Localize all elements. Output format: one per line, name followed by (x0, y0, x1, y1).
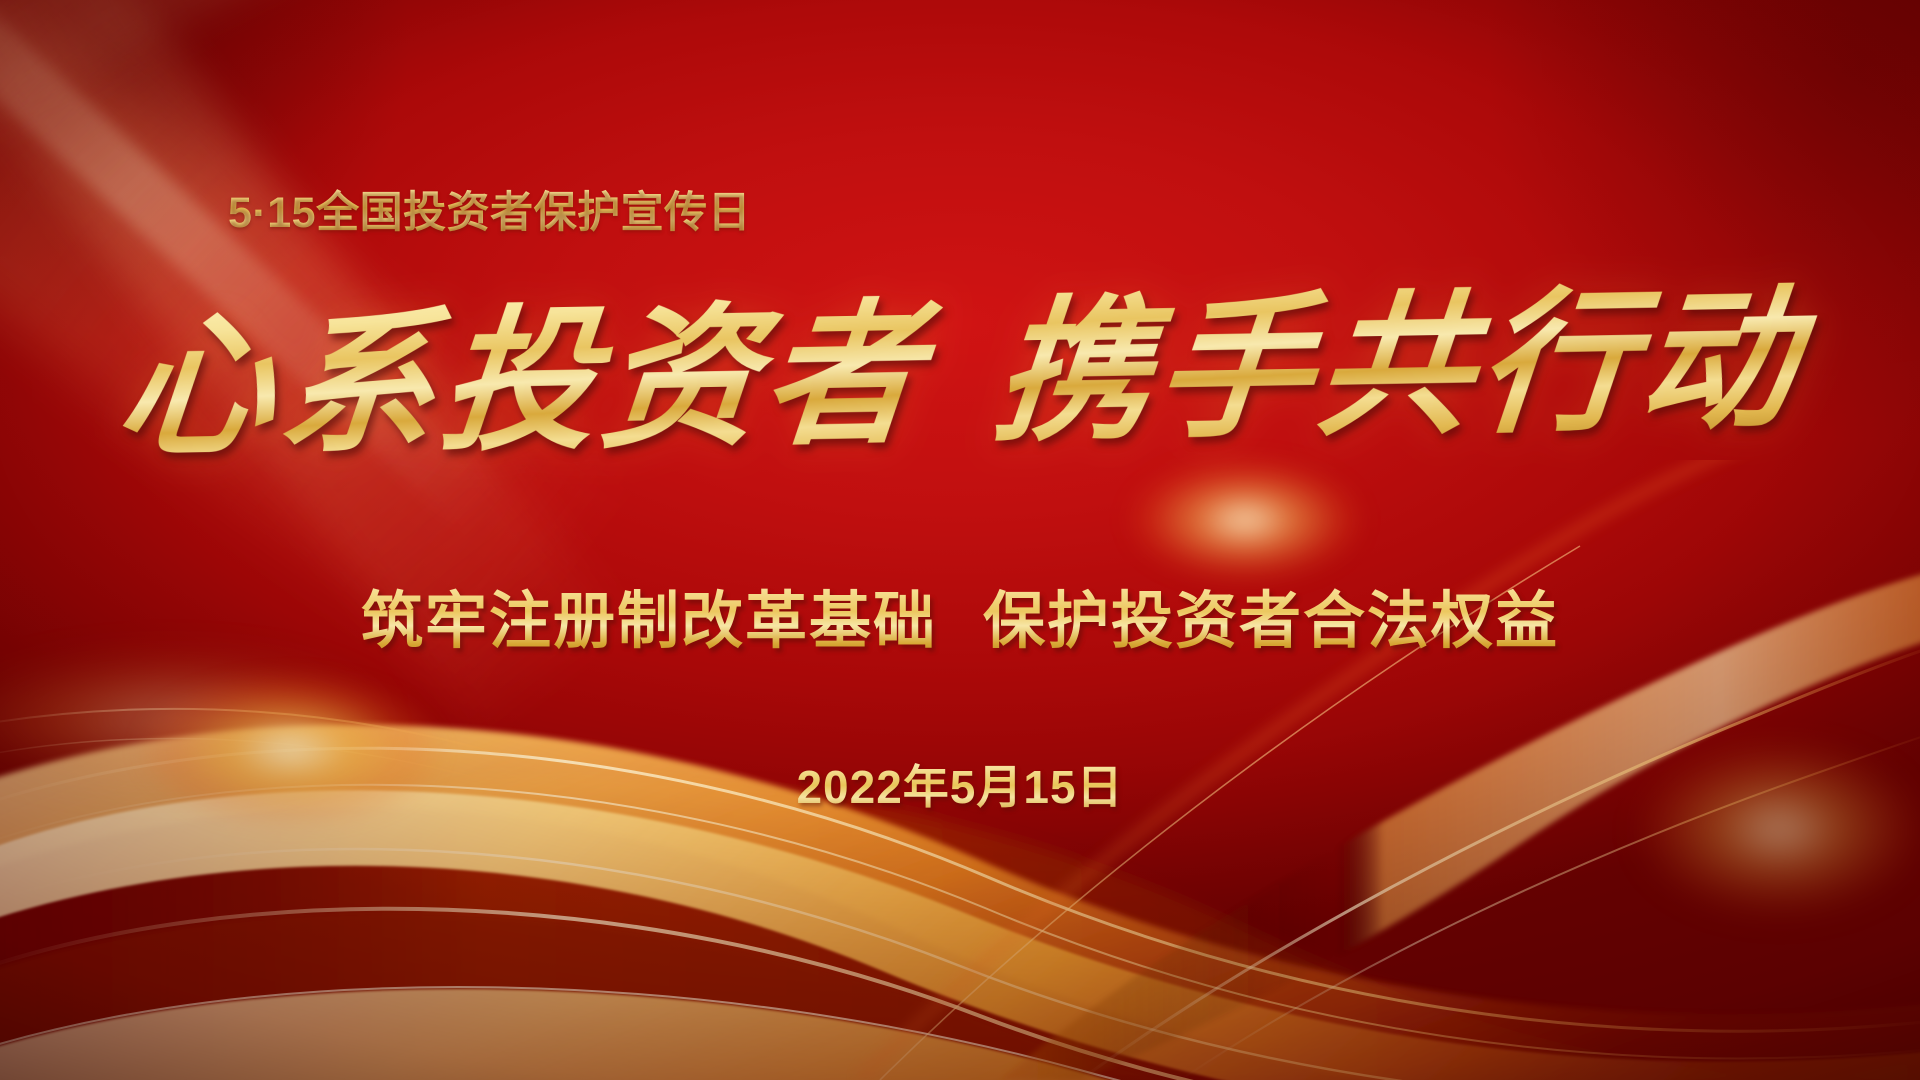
headline-part-2: 携手共行动 (987, 266, 1809, 463)
subtitle-line: 筑牢注册制改革基础保护投资者合法权益 (0, 570, 1920, 660)
event-date-text: 2022年5月15日 (0, 751, 1920, 817)
subtitle-part-2: 保护投资者合法权益 (983, 587, 1559, 656)
headline-spacer (920, 426, 990, 427)
poster-text-content: 5·15全国投资者保护宣传日 心系投资者携手共行动 筑牢注册制改革基础保护投资者… (0, 0, 1920, 1080)
poster-canvas: 5·15全国投资者保护宣传日 心系投资者携手共行动 筑牢注册制改革基础保护投资者… (0, 0, 1920, 1080)
headline-calligraphy: 心系投资者携手共行动 (0, 275, 1920, 471)
campaign-eyebrow-text: 5·15全国投资者保护宣传日 (228, 178, 751, 240)
subtitle-part-1: 筑牢注册制改革基础 (361, 587, 937, 656)
headline-part-1: 心系投资者 (111, 282, 933, 479)
